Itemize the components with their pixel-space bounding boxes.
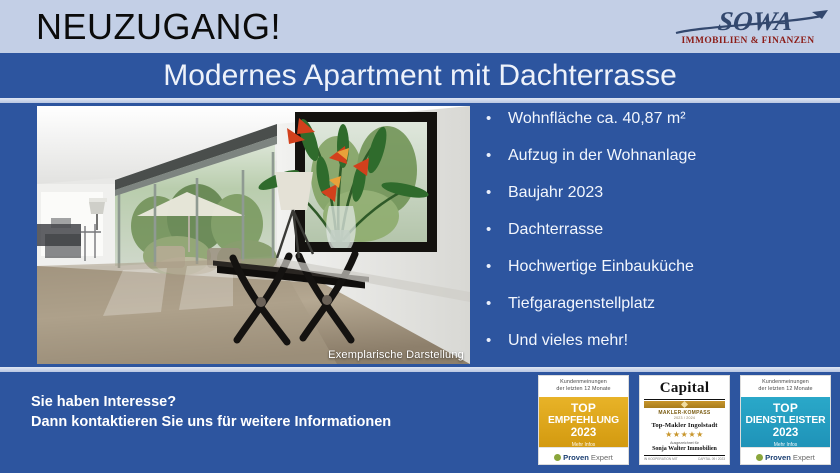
list-item-label: Und vieles mehr!	[508, 331, 628, 351]
list-item: • Aufzug in der Wohnanlage	[486, 146, 836, 166]
capital-brand: Capital	[660, 380, 710, 397]
header-bar: NEUZUGANG! SOWA IMMOBILIEN & FINANZEN	[0, 0, 840, 53]
badge-proven-expert-dienstleister[interactable]: Kundenmeinungen der letzten 12 Monate TO…	[740, 375, 831, 465]
feature-list: • Wohnfläche ca. 40,87 m² • Aufzug in de…	[486, 109, 836, 368]
contact-line-2: Dann kontaktieren Sie uns für weitere In…	[31, 412, 391, 432]
content-area: Exemplarische Darstellung • Wohnfläche c…	[0, 103, 840, 367]
badge-capital-makler[interactable]: Capital MAKLER-KOMPASS 2023 / 2024 Top-M…	[639, 375, 730, 465]
subtitle-text: Modernes Apartment mit Dachterrasse	[0, 53, 840, 98]
property-photo: Exemplarische Darstellung	[37, 106, 470, 364]
badge-award-line2: DIENSTLEISTER	[741, 415, 830, 427]
capital-firm-name: Sonja Walter Immobilien	[652, 446, 717, 452]
bullet-icon: •	[486, 294, 508, 314]
capital-subtitle: Ausgezeichnet für	[670, 441, 699, 445]
badge-award-line1: TOP	[539, 402, 628, 415]
list-item-label: Dachterrasse	[508, 220, 603, 240]
bullet-icon: •	[486, 257, 508, 277]
sowa-logo: SOWA IMMOBILIEN & FINANZEN	[662, 6, 834, 48]
capital-gold-bar	[644, 401, 725, 409]
contact-line-1: Sie haben Interesse?	[31, 392, 391, 412]
diamond-icon	[681, 401, 688, 408]
badge-proven-expert-empfehlung[interactable]: Kundenmeinungen der letzten 12 Monate TO…	[538, 375, 629, 465]
badge-header-line1: Kundenmeinungen	[541, 379, 626, 386]
star-rating-icon: ★★★★★	[665, 430, 704, 439]
certification-badges: Kundenmeinungen der letzten 12 Monate TO…	[538, 372, 840, 473]
list-item: • Hochwertige Einbauküche	[486, 257, 836, 277]
brand-name-bold: Proven	[563, 453, 589, 462]
logo-tagline: IMMOBILIEN & FINANZEN	[682, 36, 815, 46]
capital-fineprint-left: IN KOOPERATION MIT	[644, 457, 678, 461]
badge-brand: Proven Expert	[741, 447, 830, 466]
capital-award-title: Top-Makler Ingolstadt	[651, 422, 717, 429]
capital-badge-body: Capital MAKLER-KOMPASS 2023 / 2024 Top-M…	[640, 376, 729, 464]
badge-more-info-link[interactable]: Mehr Infos	[741, 442, 830, 448]
bullet-icon: •	[486, 146, 508, 166]
proven-expert-check-icon	[756, 454, 763, 461]
list-item-label: Hochwertige Einbauküche	[508, 257, 694, 277]
capital-bottom-rule	[644, 455, 725, 456]
badge-more-info-link[interactable]: Mehr Infos	[539, 442, 628, 448]
badge-year: 2023	[741, 427, 830, 440]
footer-bar: Sie haben Interesse? Dann kontaktieren S…	[0, 372, 840, 473]
makler-kompass-period: 2023 / 2024	[674, 416, 695, 420]
badge-header-line1: Kundenmeinungen	[743, 379, 828, 386]
capital-fineprint-right: CAPITAL 09 / 2023	[698, 457, 725, 461]
list-item-label: Baujahr 2023	[508, 183, 603, 203]
badge-header-line2: der letzten 12 Monate	[743, 386, 828, 393]
badge-award: TOP EMPFEHLUNG 2023 Mehr Infos	[539, 397, 628, 447]
bullet-icon: •	[486, 331, 508, 351]
page-title: NEUZUGANG!	[36, 6, 281, 48]
list-item: • Baujahr 2023	[486, 183, 836, 203]
badge-header: Kundenmeinungen der letzten 12 Monate	[741, 376, 830, 397]
list-item: • Tiefgaragenstellplatz	[486, 294, 836, 314]
contact-prompt: Sie haben Interesse? Dann kontaktieren S…	[31, 392, 391, 432]
badge-header-line2: der letzten 12 Monate	[541, 386, 626, 393]
bullet-icon: •	[486, 220, 508, 240]
bullet-icon: •	[486, 109, 508, 129]
brand-name-light: Expert	[793, 453, 815, 462]
badge-award-line1: TOP	[741, 402, 830, 415]
proven-expert-check-icon	[554, 454, 561, 461]
list-item-label: Tiefgaragenstellplatz	[508, 294, 655, 314]
badge-award: TOP DIENSTLEISTER 2023 Mehr Infos	[741, 397, 830, 447]
list-item: • Und vieles mehr!	[486, 331, 836, 351]
photo-caption: Exemplarische Darstellung	[328, 349, 464, 361]
brand-name-light: Expert	[591, 453, 613, 462]
badge-brand: Proven Expert	[539, 447, 628, 466]
badge-header: Kundenmeinungen der letzten 12 Monate	[539, 376, 628, 397]
capital-divider	[644, 399, 725, 400]
brand-name-bold: Proven	[765, 453, 791, 462]
list-item-label: Aufzug in der Wohnanlage	[508, 146, 696, 166]
list-item: • Dachterrasse	[486, 220, 836, 240]
badge-award-line2: EMPFEHLUNG	[539, 415, 628, 427]
badge-year: 2023	[539, 427, 628, 440]
capital-fineprint: IN KOOPERATION MIT CAPITAL 09 / 2023	[644, 457, 725, 461]
list-item: • Wohnfläche ca. 40,87 m²	[486, 109, 836, 129]
list-item-label: Wohnfläche ca. 40,87 m²	[508, 109, 686, 129]
logo-wordmark: SOWA	[676, 6, 828, 36]
real-estate-flyer: NEUZUGANG! SOWA IMMOBILIEN & FINANZEN Mo…	[0, 0, 840, 473]
bullet-icon: •	[486, 183, 508, 203]
